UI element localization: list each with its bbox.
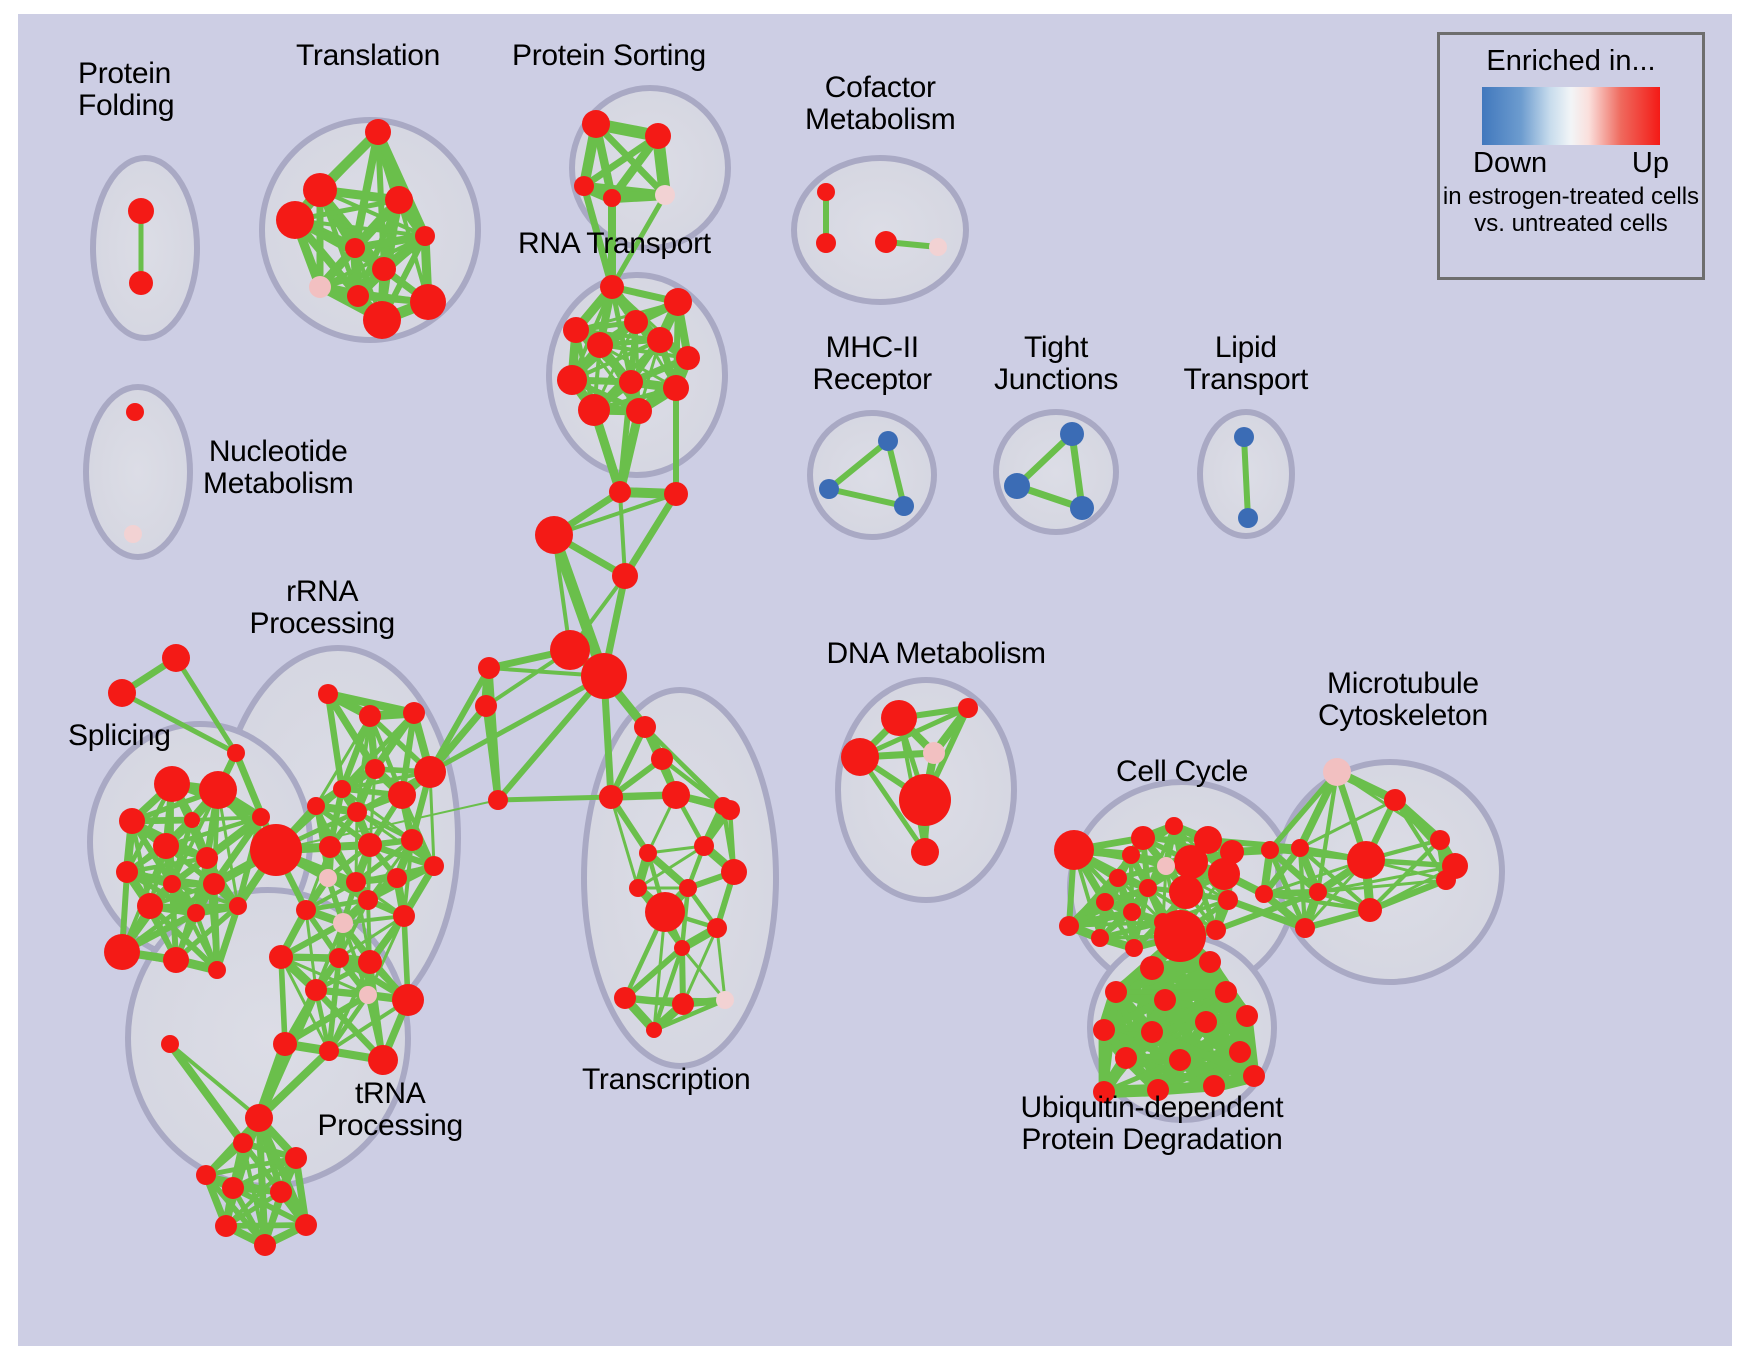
graph-node — [319, 1041, 339, 1061]
graph-node — [894, 496, 914, 516]
graph-node — [720, 800, 740, 820]
graph-node — [1140, 956, 1164, 980]
graph-node — [841, 738, 879, 776]
graph-node — [1123, 903, 1141, 921]
graph-node — [563, 317, 589, 343]
graph-node — [318, 684, 338, 704]
graph-node — [875, 231, 897, 253]
graph-node — [1234, 427, 1254, 447]
graph-node — [609, 481, 631, 503]
graph-node — [646, 1022, 662, 1038]
graph-node — [199, 771, 237, 809]
cluster-label-nucleotide-metabolism: Nucleotide Metabolism — [203, 436, 353, 500]
graph-node — [108, 679, 136, 707]
graph-node — [415, 226, 435, 246]
cluster-label-lipid-transport: Lipid Transport — [1184, 332, 1309, 396]
graph-node — [1093, 1019, 1115, 1041]
graph-node — [574, 176, 594, 196]
graph-node — [1157, 857, 1175, 875]
graph-node — [329, 948, 349, 968]
graph-node — [345, 238, 365, 258]
graph-node — [137, 893, 163, 919]
graph-node — [388, 781, 416, 809]
graph-node — [154, 766, 190, 802]
graph-node — [187, 904, 205, 922]
graph-node — [162, 644, 190, 672]
graph-node — [1139, 879, 1157, 897]
graph-node — [1236, 1005, 1258, 1027]
graph-node — [1004, 473, 1030, 499]
graph-node — [333, 913, 353, 933]
graph-node — [1169, 1049, 1191, 1071]
legend-subtitle-line2: vs. untreated cells — [1440, 211, 1702, 238]
graph-edge — [498, 676, 604, 800]
cluster-label-protein-sorting: Protein Sorting — [512, 40, 706, 72]
graph-node — [1122, 846, 1140, 864]
graph-node — [359, 986, 377, 1004]
graph-node — [104, 934, 140, 970]
graph-node — [296, 900, 316, 920]
graph-node — [1261, 841, 1279, 859]
graph-node — [694, 836, 714, 856]
graph-node — [1295, 918, 1315, 938]
graph-node — [250, 824, 302, 876]
graph-node — [626, 398, 652, 424]
graph-node — [273, 1032, 297, 1056]
graph-node — [1165, 817, 1183, 835]
graph-node — [647, 327, 673, 353]
graph-node — [358, 890, 378, 910]
graph-node — [535, 516, 573, 554]
graph-node — [1442, 853, 1468, 879]
graph-node — [208, 961, 226, 979]
graph-node — [269, 945, 293, 969]
cluster-label-mhc-ii-receptor: MHC-II Receptor — [813, 332, 932, 396]
graph-node — [672, 993, 694, 1015]
graph-node — [347, 285, 369, 307]
graph-node — [1105, 981, 1127, 1003]
graph-node — [550, 630, 590, 670]
graph-node — [923, 742, 945, 764]
graph-node — [319, 869, 337, 887]
graph-node — [387, 868, 407, 888]
graph-node — [403, 702, 425, 724]
graph-node — [1070, 496, 1094, 520]
graph-edge — [1244, 437, 1248, 518]
graph-node — [392, 984, 424, 1016]
graph-node — [716, 991, 734, 1009]
graph-node — [1347, 841, 1385, 879]
graph-node — [295, 1214, 317, 1236]
graph-edge — [281, 957, 285, 1044]
graph-node — [1206, 920, 1226, 940]
cluster-ellipse-tight-junctions — [996, 412, 1116, 532]
graph-node — [674, 940, 690, 956]
graph-node — [222, 1177, 244, 1199]
graph-node — [1169, 875, 1203, 909]
graph-node — [1384, 789, 1406, 811]
graph-node — [410, 284, 446, 320]
graph-node — [655, 185, 675, 205]
graph-node — [1154, 989, 1176, 1011]
graph-node — [1215, 981, 1237, 1003]
graph-node — [368, 1045, 398, 1075]
graph-node — [582, 110, 610, 138]
graph-node — [227, 744, 245, 762]
cluster-label-splicing: Splicing — [68, 720, 171, 752]
graph-node — [414, 756, 446, 788]
graph-node — [303, 173, 337, 207]
graph-node — [819, 479, 839, 499]
figure-canvas: Protein FoldingTranslationProtein Sortin… — [0, 0, 1750, 1360]
legend-color-gradient — [1482, 87, 1660, 145]
graph-node — [663, 375, 689, 401]
graph-node — [347, 802, 367, 822]
graph-node — [307, 797, 325, 815]
graph-node — [1323, 758, 1351, 786]
graph-node — [1060, 422, 1084, 446]
cluster-label-transcription: Transcription — [582, 1064, 750, 1096]
graph-node — [645, 892, 685, 932]
graph-node — [229, 897, 247, 915]
graph-node — [557, 365, 587, 395]
graph-node — [252, 808, 270, 826]
graph-node — [1243, 1065, 1265, 1087]
graph-node — [161, 1035, 179, 1053]
graph-node — [587, 332, 613, 358]
graph-node — [372, 257, 396, 281]
graph-node — [128, 198, 154, 224]
graph-node — [424, 856, 444, 876]
graph-edge — [498, 797, 611, 800]
graph-node — [1208, 858, 1240, 890]
cluster-ellipse-protein-folding — [93, 158, 197, 338]
cluster-label-trna-processing: tRNA Processing — [318, 1078, 463, 1142]
graph-node — [664, 482, 688, 506]
graph-node — [163, 947, 189, 973]
graph-node — [276, 201, 314, 239]
graph-node — [599, 785, 623, 809]
graph-node — [478, 657, 500, 679]
graph-node — [1195, 1011, 1217, 1033]
graph-node — [319, 836, 341, 858]
graph-node — [619, 370, 643, 394]
cluster-label-rna-transport: RNA Transport — [518, 228, 711, 260]
cluster-ellipse-mhc-ii-receptor — [810, 413, 934, 537]
graph-node — [1291, 839, 1309, 857]
graph-node — [817, 183, 835, 201]
cluster-label-tight-junctions: Tight Junctions — [994, 332, 1118, 396]
graph-node — [1054, 830, 1094, 870]
graph-node — [203, 873, 225, 895]
graph-node — [1091, 929, 1109, 947]
cluster-label-cell-cycle: Cell Cycle — [1116, 756, 1248, 788]
graph-node — [233, 1133, 253, 1153]
graph-node — [129, 271, 153, 295]
graph-edge — [625, 494, 676, 576]
graph-node — [958, 698, 978, 718]
graph-node — [124, 525, 142, 543]
graph-node — [346, 872, 366, 892]
legend-panel: Enriched in... Down Up in estrogen-treat… — [1437, 32, 1705, 280]
graph-node — [676, 346, 700, 370]
graph-node — [116, 861, 138, 883]
graph-node — [365, 119, 391, 145]
graph-node — [1430, 830, 1450, 850]
graph-node — [1174, 845, 1208, 879]
graph-node — [1255, 885, 1273, 903]
graph-node — [1125, 939, 1143, 957]
graph-node — [475, 695, 497, 717]
cluster-label-cofactor-metabolism: Cofactor Metabolism — [805, 72, 955, 136]
graph-node — [816, 233, 836, 253]
graph-node — [600, 275, 624, 299]
graph-node — [662, 781, 690, 809]
graph-node — [270, 1181, 292, 1203]
graph-node — [309, 276, 331, 298]
graph-node — [254, 1234, 276, 1256]
graph-node — [358, 950, 382, 974]
graph-node — [929, 238, 947, 256]
graph-node — [624, 310, 648, 334]
graph-node — [184, 812, 200, 828]
legend-subtitle-line1: in estrogen-treated cells — [1440, 184, 1702, 211]
graph-node — [614, 987, 636, 1009]
graph-node — [363, 301, 401, 339]
graph-node — [359, 705, 381, 727]
graph-node — [911, 838, 939, 866]
graph-node — [707, 918, 727, 938]
graph-node — [629, 879, 647, 897]
graph-node — [305, 979, 327, 1001]
graph-node — [1358, 898, 1382, 922]
cluster-label-rrna-processing: rRNA Processing — [250, 576, 395, 640]
cluster-label-translation: Translation — [296, 40, 440, 72]
graph-node — [365, 759, 385, 779]
cluster-ellipse-cofactor-metabolism — [794, 158, 966, 302]
graph-node — [612, 563, 638, 589]
graph-node — [651, 748, 673, 770]
graph-node — [245, 1104, 273, 1132]
graph-node — [664, 288, 692, 316]
cluster-label-dna-metabolism: DNA Metabolism — [827, 638, 1046, 670]
graph-node — [126, 403, 144, 421]
graph-node — [721, 859, 747, 885]
graph-node — [1131, 826, 1155, 850]
graph-node — [634, 716, 656, 738]
graph-node — [679, 879, 697, 897]
graph-node — [333, 780, 351, 798]
graph-node — [285, 1147, 307, 1169]
graph-node — [1154, 910, 1206, 962]
graph-node — [393, 905, 415, 927]
graph-node — [1229, 1041, 1251, 1063]
graph-node — [578, 394, 610, 426]
graph-node — [401, 829, 423, 851]
legend-low-label: Down — [1473, 147, 1547, 180]
legend-high-label: Up — [1632, 147, 1669, 180]
graph-node — [1218, 890, 1238, 910]
graph-node — [1199, 951, 1221, 973]
cluster-label-microtubule-cytoskeleton: Microtubule Cytoskeleton — [1318, 668, 1488, 732]
graph-node — [899, 774, 951, 826]
graph-node — [215, 1215, 237, 1237]
legend-title: Enriched in... — [1440, 45, 1702, 78]
graph-node — [878, 431, 898, 451]
graph-node — [645, 123, 671, 149]
graph-node — [196, 1165, 216, 1185]
graph-node — [1109, 869, 1127, 887]
graph-node — [1059, 916, 1079, 936]
graph-node — [358, 833, 382, 857]
graph-node — [1096, 893, 1114, 911]
graph-node — [385, 186, 413, 214]
graph-node — [119, 808, 145, 834]
graph-node — [881, 700, 917, 736]
graph-node — [1115, 1047, 1137, 1069]
graph-node — [603, 189, 621, 207]
graph-node — [163, 875, 181, 893]
graph-node — [1141, 1021, 1163, 1043]
graph-node — [581, 653, 627, 699]
graph-node — [488, 790, 508, 810]
graph-node — [153, 833, 179, 859]
graph-node — [196, 847, 218, 869]
cluster-label-protein-folding: Protein Folding — [78, 58, 174, 122]
graph-node — [1309, 883, 1327, 901]
graph-node — [1238, 508, 1258, 528]
graph-node — [639, 844, 657, 862]
cluster-label-ubiquitin-protein-degradation: Ubiquitin-dependent Protein Degradation — [1021, 1092, 1284, 1156]
